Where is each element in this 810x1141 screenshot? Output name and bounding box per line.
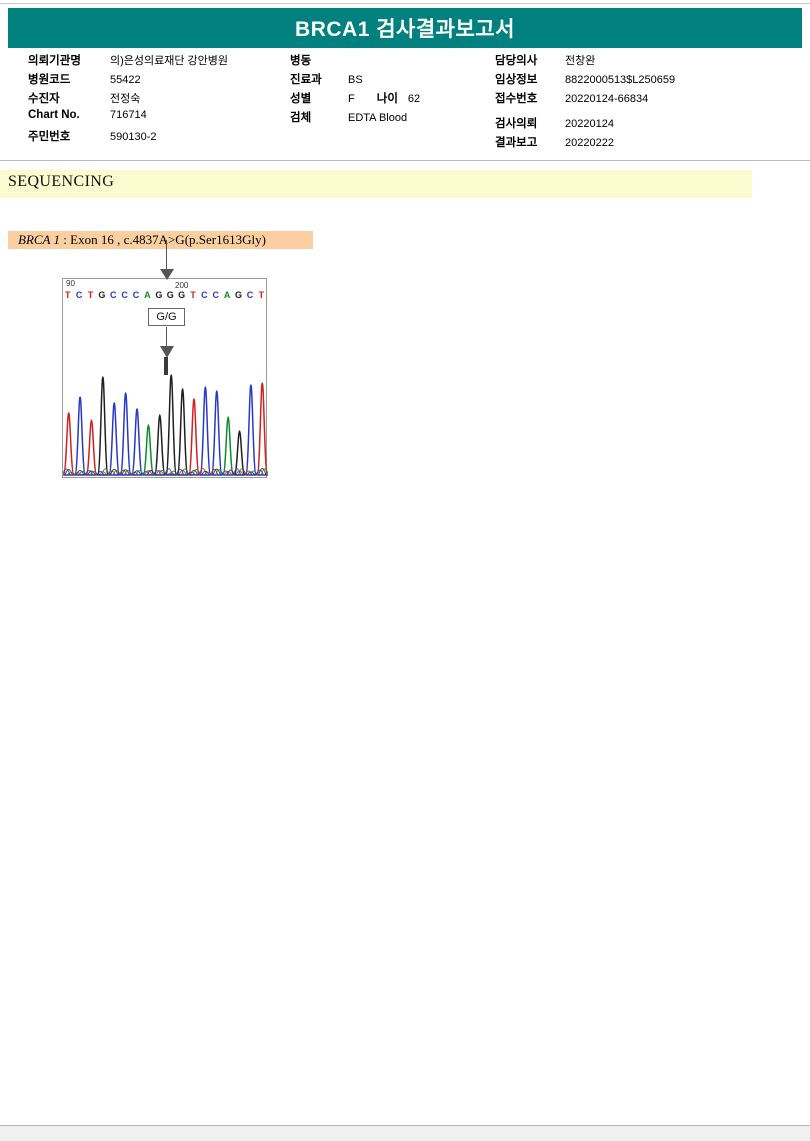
base-letter: C bbox=[130, 288, 141, 302]
trace-peak bbox=[63, 413, 73, 475]
patient-info-column-middle: 병동 진료과 BS 성별 F 나이 62 검체 EDTA Blood bbox=[290, 52, 490, 128]
base-letter: C bbox=[73, 288, 84, 302]
ruler-tick-left: 90 bbox=[66, 279, 75, 288]
header-separator-rule bbox=[0, 160, 810, 161]
info-label: Chart No. bbox=[28, 109, 110, 121]
page-title: BRCA1 검사결과보고서 bbox=[295, 13, 515, 43]
base-letter: A bbox=[221, 288, 232, 302]
variant-marker-arrow-down-icon bbox=[160, 269, 174, 280]
chromatogram-base-sequence: TCTGCCCAGGGTCCAGCT bbox=[62, 288, 267, 302]
base-letter: G bbox=[96, 288, 107, 302]
info-label: 주민번호 bbox=[28, 128, 110, 144]
info-label: 임상정보 bbox=[495, 71, 565, 87]
variant-gene-name: BRCA 1 bbox=[18, 232, 60, 247]
base-letter: C bbox=[108, 288, 119, 302]
info-row-requesting-institution: 의뢰기관명 의)은성의료재단 강안병원 bbox=[28, 52, 298, 71]
info-value: BS bbox=[348, 74, 363, 86]
info-label: 담당의사 bbox=[495, 52, 565, 68]
info-label: 검체 bbox=[290, 109, 348, 125]
info-row-test-request-date: 검사의뢰 20220124 bbox=[495, 115, 795, 134]
info-label-age: 나이 bbox=[377, 90, 398, 106]
info-label: 검사의뢰 bbox=[495, 115, 565, 131]
info-value: EDTA Blood bbox=[348, 112, 407, 124]
trace-peak bbox=[177, 389, 187, 475]
report-title-bar: BRCA1 검사결과보고서 bbox=[8, 8, 802, 48]
trace-peak bbox=[155, 415, 165, 475]
base-letter: G bbox=[153, 288, 164, 302]
info-row-physician: 담당의사 전창완 bbox=[495, 52, 795, 71]
trace-peak bbox=[143, 425, 153, 475]
variant-detail: : Exon 16 , c.4837A>G(p.Ser1613Gly) bbox=[60, 232, 266, 247]
patient-info-block: 의뢰기관명 의)은성의료재단 강안병원 병원코드 55422 수진자 전정숙 C… bbox=[0, 52, 810, 157]
info-label: 병원코드 bbox=[28, 71, 110, 87]
base-letter: C bbox=[244, 288, 255, 302]
trace-peak bbox=[200, 387, 210, 475]
genotype-call-label: G/G bbox=[156, 311, 176, 323]
trace-peak bbox=[86, 420, 96, 475]
trace-peak bbox=[109, 403, 119, 475]
info-label: 수진자 bbox=[28, 90, 110, 106]
trace-peak bbox=[120, 393, 130, 475]
info-row-clinical-info: 임상정보 8822000513$L250659 bbox=[495, 71, 795, 90]
variant-marker-stem bbox=[164, 357, 168, 375]
base-letter: G bbox=[176, 288, 187, 302]
info-row-chart-no: Chart No. 716714 bbox=[28, 109, 298, 128]
info-value: 20220124 bbox=[565, 118, 614, 130]
base-letter: C bbox=[210, 288, 221, 302]
info-row-specimen: 검체 EDTA Blood bbox=[290, 109, 490, 128]
genotype-call-box: G/G bbox=[148, 308, 185, 326]
patient-info-column-right: 담당의사 전창완 임상정보 8822000513$L250659 접수번호 20… bbox=[495, 52, 795, 153]
trace-peak bbox=[166, 375, 176, 475]
info-label: 결과보고 bbox=[495, 134, 565, 150]
info-label: 접수번호 bbox=[495, 90, 565, 106]
info-label: 진료과 bbox=[290, 71, 348, 87]
trace-peak bbox=[212, 391, 222, 475]
info-value: 20220124-66834 bbox=[565, 93, 648, 105]
info-value-age: 62 bbox=[408, 93, 420, 105]
info-value: 590130-2 bbox=[110, 131, 157, 143]
variant-annotation-text: BRCA 1 : Exon 16 , c.4837A>G(p.Ser1613Gl… bbox=[18, 232, 266, 248]
base-letter: C bbox=[199, 288, 210, 302]
info-label: 의뢰기관명 bbox=[28, 52, 110, 68]
trace-shoulder bbox=[238, 469, 245, 475]
page-footer-area bbox=[0, 1126, 810, 1141]
info-value-sex: F bbox=[348, 93, 355, 105]
patient-info-column-left: 의뢰기관명 의)은성의료재단 강안병원 병원코드 55422 수진자 전정숙 C… bbox=[28, 52, 298, 147]
info-value: 716714 bbox=[110, 109, 147, 121]
trace-peak bbox=[75, 397, 85, 475]
base-letter: G bbox=[233, 288, 244, 302]
base-letter: G bbox=[165, 288, 176, 302]
base-letter: T bbox=[62, 288, 73, 302]
info-value: 8822000513$L250659 bbox=[565, 74, 675, 86]
info-value: 55422 bbox=[110, 74, 141, 86]
info-row-department: 진료과 BS bbox=[290, 71, 490, 90]
base-letter: C bbox=[119, 288, 130, 302]
sequencing-section-heading: SEQUENCING bbox=[8, 173, 114, 191]
info-value: 의)은성의료재단 강안병원 bbox=[110, 52, 228, 68]
trace-peak bbox=[132, 409, 142, 475]
trace-peak bbox=[189, 399, 199, 475]
info-row-sex-age: 성별 F 나이 62 bbox=[290, 90, 490, 109]
base-letter: T bbox=[187, 288, 198, 302]
trace-peak bbox=[234, 431, 244, 475]
info-row-resident-number: 주민번호 590130-2 bbox=[28, 128, 298, 147]
info-value: 전창완 bbox=[565, 52, 595, 68]
info-row-hospital-code: 병원코드 55422 bbox=[28, 71, 298, 90]
trace-peak bbox=[257, 383, 267, 475]
info-label: 병동 bbox=[290, 52, 348, 68]
info-row-result-report-date: 결과보고 20220222 bbox=[495, 134, 795, 153]
trace-peak bbox=[246, 385, 256, 475]
base-letter: T bbox=[256, 288, 267, 302]
base-letter: A bbox=[142, 288, 153, 302]
info-value: 전정숙 bbox=[110, 90, 140, 106]
report-page: BRCA1 검사결과보고서 의뢰기관명 의)은성의료재단 강안병원 병원코드 5… bbox=[0, 0, 810, 1141]
info-row-ward: 병동 bbox=[290, 52, 490, 71]
info-row-patient-name: 수진자 전정숙 bbox=[28, 90, 298, 109]
trace-peak bbox=[98, 377, 108, 475]
page-top-rule bbox=[0, 3, 810, 4]
info-label-sex: 성별 bbox=[290, 90, 348, 106]
chromatogram-peaks bbox=[63, 375, 268, 475]
info-row-accession-number: 접수번호 20220124-66834 bbox=[495, 90, 795, 109]
base-letter: T bbox=[85, 288, 96, 302]
info-value: 20220222 bbox=[565, 137, 614, 149]
trace-peak bbox=[223, 417, 233, 475]
